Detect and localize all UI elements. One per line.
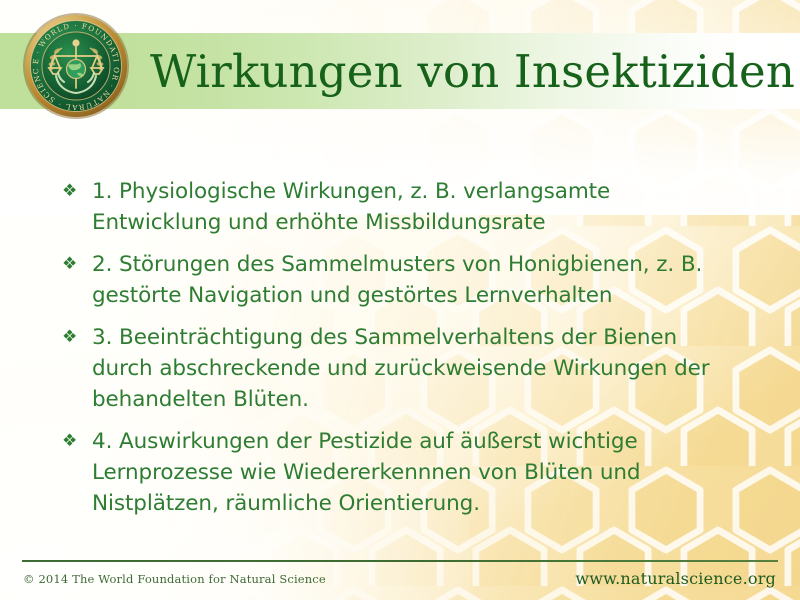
list-item: ❖ 3. Beeinträchtigung des Sammelverhalte… xyxy=(62,322,734,415)
list-item-text: 1. Physiologische Wirkungen, z. B. verla… xyxy=(92,176,734,238)
floret-bullet-icon: ❖ xyxy=(62,426,92,449)
bullet-list: ❖ 1. Physiologische Wirkungen, z. B. ver… xyxy=(62,176,734,530)
copyright-notice: © 2014 The World Foundation for Natural … xyxy=(23,572,326,586)
list-item: ❖ 2. Störungen des Sammelmusters von Hon… xyxy=(62,249,734,311)
list-item-text: 2. Störungen des Sammelmusters von Honig… xyxy=(92,249,734,311)
footer-divider xyxy=(22,560,778,562)
organization-logo: THE · WORLD · FOUNDATION FOR · NATURAL ·… xyxy=(22,12,130,120)
floret-bullet-icon: ❖ xyxy=(62,176,92,199)
list-item: ❖ 4. Auswirkungen der Pestizide auf äuße… xyxy=(62,426,734,519)
floret-bullet-icon: ❖ xyxy=(62,322,92,345)
slide-title: Wirkungen von Insektiziden xyxy=(150,33,795,109)
list-item-text: 4. Auswirkungen der Pestizide auf äußers… xyxy=(92,426,734,519)
list-item-text: 3. Beeinträchtigung des Sammelverhaltens… xyxy=(92,322,734,415)
website-url[interactable]: www.naturalscience.org xyxy=(575,569,776,588)
list-item: ❖ 1. Physiologische Wirkungen, z. B. ver… xyxy=(62,176,734,238)
floret-bullet-icon: ❖ xyxy=(62,249,92,272)
slide-canvas: THE · WORLD · FOUNDATION FOR · NATURAL ·… xyxy=(0,0,800,600)
